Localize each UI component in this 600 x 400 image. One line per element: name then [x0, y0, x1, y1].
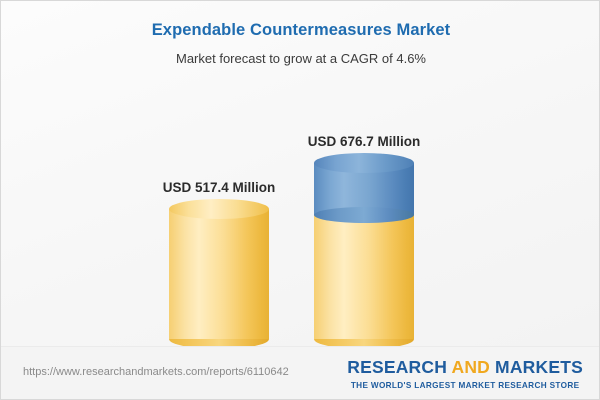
bar-group-2030: USD 676.7 Million 2030 [314, 41, 414, 349]
bar-body-gold-2030 [314, 215, 414, 339]
chart-plot-area: USD 517.4 Million 2024 USD 676.7 Million… [1, 1, 600, 349]
bar-top-ellipse-2030 [314, 153, 414, 173]
market-forecast-infographic: Expendable Countermeasures Market Market… [0, 0, 600, 400]
bar-top-ellipse-2024 [169, 199, 269, 219]
logo-text-markets: MARKETS [490, 357, 583, 377]
bar-group-2024: USD 517.4 Million 2024 [169, 41, 269, 349]
logo-tagline: THE WORLD'S LARGEST MARKET RESEARCH STOR… [347, 381, 583, 390]
research-and-markets-logo[interactable]: RESEARCH AND MARKETS THE WORLD'S LARGEST… [347, 357, 583, 390]
bar-value-label-2024: USD 517.4 Million [109, 180, 329, 195]
bar-value-label-2030: USD 676.7 Million [254, 134, 474, 149]
logo-text-research: RESEARCH [347, 357, 451, 377]
bar-cylinder-2024 [169, 209, 269, 339]
logo-wordmark: RESEARCH AND MARKETS [347, 357, 583, 378]
report-url[interactable]: https://www.researchandmarkets.com/repor… [23, 366, 289, 378]
bar-segment-seam-2030 [314, 207, 414, 223]
bar-cylinder-2030 [314, 163, 414, 339]
logo-text-and: AND [451, 357, 490, 377]
footer-bar: https://www.researchandmarkets.com/repor… [1, 346, 600, 399]
bar-body-gold-2024 [169, 209, 269, 339]
